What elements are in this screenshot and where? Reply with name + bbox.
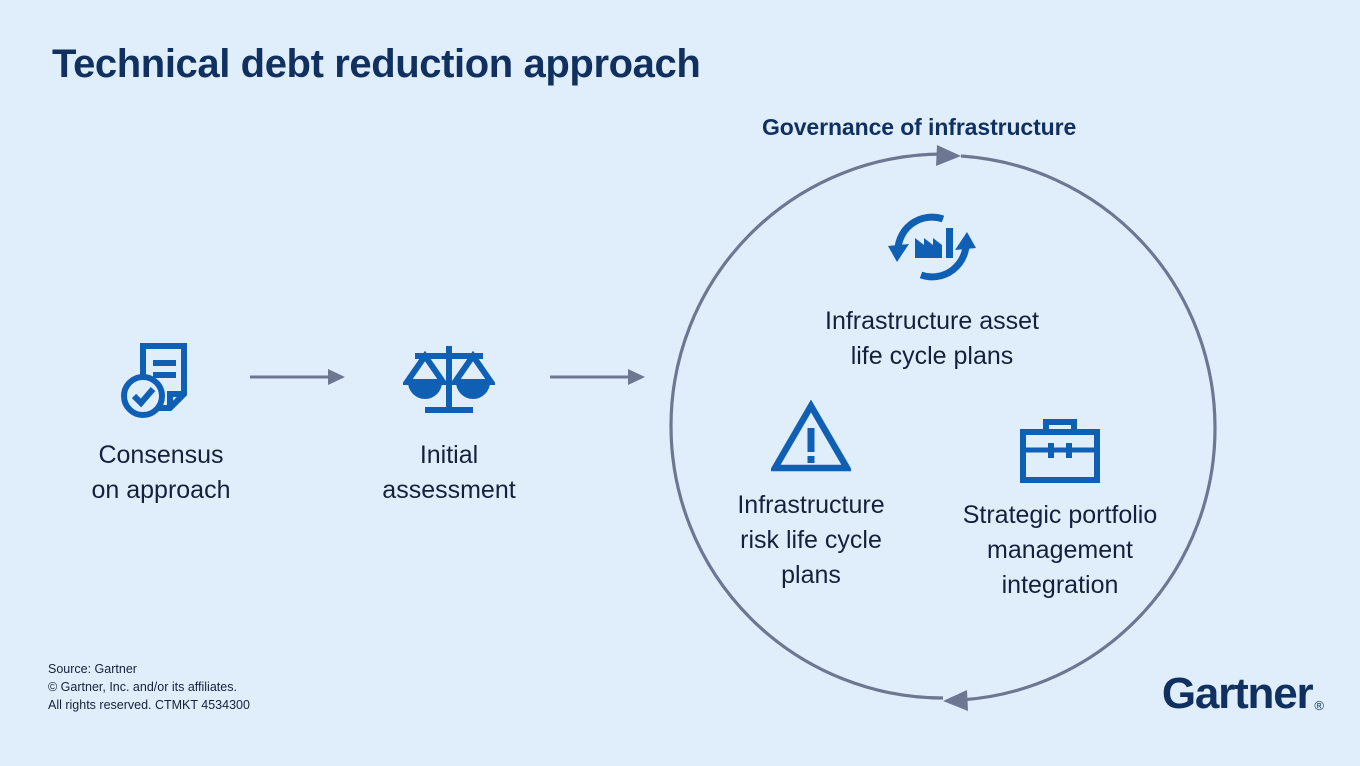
step-assessment: Initial assessment — [336, 336, 562, 508]
registered-trademark-icon: ® — [1314, 698, 1324, 713]
slide-canvas: Technical debt reduction approach Govern… — [0, 0, 1360, 766]
cycle-factory-icon — [782, 198, 1082, 290]
arrow-right-icon — [250, 366, 346, 393]
footer-source-text: Source: Gartner © Gartner, Inc. and/or i… — [48, 660, 250, 714]
arrow-right-icon — [550, 366, 646, 393]
cycle-node-asset-label: Infrastructure asset life cycle plans — [782, 304, 1082, 374]
step-consensus: Consensus on approach — [48, 336, 274, 508]
page-title: Technical debt reduction approach — [52, 42, 700, 87]
cycle-node-portfolio-label: Strategic portfolio management integrati… — [940, 498, 1180, 603]
briefcase-icon — [940, 392, 1180, 484]
cycle-node-risk-label: Infrastructure risk life cycle plans — [700, 488, 922, 593]
balance-scales-icon — [336, 336, 562, 426]
cycle-node-risk: Infrastructure risk life cycle plans — [700, 382, 922, 593]
gartner-logo-text: Gartner — [1162, 672, 1313, 716]
cycle-node-portfolio: Strategic portfolio management integrati… — [940, 392, 1180, 603]
gartner-logo: Gartner ® — [1162, 672, 1324, 716]
warning-triangle-icon — [700, 382, 922, 474]
step-consensus-label: Consensus on approach — [48, 438, 274, 508]
document-check-icon — [48, 336, 274, 426]
step-assessment-label: Initial assessment — [336, 438, 562, 508]
cycle-node-asset: Infrastructure asset life cycle plans — [782, 198, 1082, 374]
cycle-header: Governance of infrastructure — [762, 114, 1076, 141]
